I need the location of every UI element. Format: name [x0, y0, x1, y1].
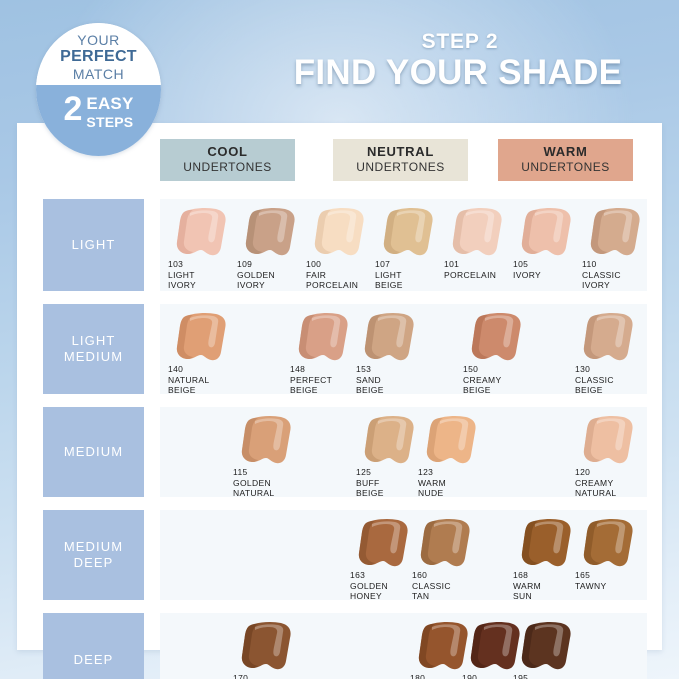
shade-number: 107 — [375, 259, 451, 270]
swatch-smear-icon — [467, 312, 527, 364]
shade-name: CLASSIC BEIGE — [575, 375, 651, 396]
shade-number: 195 — [513, 673, 589, 679]
shade-name: LIGHT IVORY — [168, 270, 244, 291]
shade-swatch-140[interactable]: 140NATURAL BEIGE — [168, 304, 240, 394]
shade-row: DEEP170DEEP GOLDEN180GOLDEN CARAMEL190DE… — [17, 613, 662, 679]
shade-swatch-120[interactable]: 120CREAMY NATURAL — [575, 407, 647, 497]
shade-info: 140NATURAL BEIGE — [168, 364, 244, 396]
shade-swatch-123[interactable]: 123WARM NUDE — [418, 407, 490, 497]
step-label: STEP 2 — [300, 30, 620, 54]
shade-swatch-100[interactable]: 100FAIR PORCELAIN — [306, 199, 378, 291]
shade-info: 100FAIR PORCELAIN — [306, 259, 382, 291]
shade-number: 123 — [418, 467, 494, 478]
shade-name: NATURAL BEIGE — [168, 375, 244, 396]
swatch-smear-icon — [586, 207, 646, 259]
infographic-stage: STEP 2 FIND YOUR SHADE YOUR PERFECT MATC… — [0, 0, 679, 679]
shade-info: 123WARM NUDE — [418, 467, 494, 499]
shade-name: CREAMY BEIGE — [463, 375, 539, 396]
swatch-smear-icon — [310, 207, 370, 259]
badge-easy-steps: EASY STEPS — [86, 92, 133, 132]
shade-number: 115 — [233, 467, 309, 478]
shade-swatch-101[interactable]: 101PORCELAIN — [444, 199, 516, 291]
row-label-medium[interactable]: MEDIUM — [43, 407, 144, 497]
shade-info: 150CREAMY BEIGE — [463, 364, 539, 396]
shade-info: 105IVORY — [513, 259, 589, 280]
shade-number: 170 — [233, 673, 309, 679]
swatch-smear-icon — [579, 415, 639, 467]
shade-info: 101PORCELAIN — [444, 259, 520, 280]
shade-name: LIGHT BEIGE — [375, 270, 451, 291]
shade-number: 101 — [444, 259, 520, 270]
swatch-smear-icon — [172, 312, 232, 364]
row-label-medium-deep[interactable]: MEDIUM DEEP — [43, 510, 144, 600]
undertone-name: NEUTRAL — [333, 144, 468, 160]
swatch-smear-icon — [360, 415, 420, 467]
shade-info: 115GOLDEN NATURAL — [233, 467, 309, 499]
shade-number: 153 — [356, 364, 432, 375]
swatch-smear-icon — [416, 518, 476, 570]
shade-swatch-109[interactable]: 109GOLDEN IVORY — [237, 199, 309, 291]
swatch-smear-icon — [579, 518, 639, 570]
swatch-smear-icon — [517, 207, 577, 259]
undertone-sublabel: UNDERTONES — [333, 160, 468, 175]
shade-number: 148 — [290, 364, 366, 375]
badge-perfect-label: PERFECT — [36, 48, 161, 66]
shade-name: GOLDEN IVORY — [237, 270, 313, 291]
shade-name: TAWNY — [575, 581, 651, 592]
swatch-smear-icon — [448, 207, 508, 259]
swatch-smear-icon — [517, 621, 577, 673]
shade-number: 103 — [168, 259, 244, 270]
shade-number: 150 — [463, 364, 539, 375]
shade-name: CREAMY NATURAL — [575, 478, 651, 499]
shade-row: LIGHT103LIGHT IVORY109GOLDEN IVORY100FAI… — [17, 199, 662, 291]
swatch-smear-icon — [360, 312, 420, 364]
swatch-smear-icon — [237, 415, 297, 467]
row-label-deep[interactable]: DEEP — [43, 613, 144, 679]
undertone-name: COOL — [160, 144, 295, 160]
shade-row: MEDIUM DEEP163GOLDEN HONEY160CLASSIC TAN… — [17, 510, 662, 600]
row-label-light[interactable]: LIGHT — [43, 199, 144, 291]
shade-info: 148PERFECT BEIGE — [290, 364, 366, 396]
shade-row: LIGHT MEDIUM140NATURAL BEIGE148PERFECT B… — [17, 304, 662, 394]
swatch-smear-icon — [294, 312, 354, 364]
shade-info: 109GOLDEN IVORY — [237, 259, 313, 291]
perfect-match-badge: YOUR PERFECT MATCH 2 EASY STEPS — [36, 23, 161, 156]
swatch-smear-icon — [241, 207, 301, 259]
shade-swatch-165[interactable]: 165TAWNY — [575, 510, 647, 600]
shade-swatch-148[interactable]: 148PERFECT BEIGE — [290, 304, 362, 394]
shade-info: 165TAWNY — [575, 570, 651, 591]
shade-number: 160 — [412, 570, 488, 581]
badge-bottom-half: 2 EASY STEPS — [36, 85, 161, 156]
undertone-sublabel: UNDERTONES — [160, 160, 295, 175]
badge-easy-label: EASY — [86, 94, 133, 113]
badge-match-label: MATCH — [36, 66, 161, 82]
shade-swatch-105[interactable]: 105IVORY — [513, 199, 585, 291]
undertone-header-neutral: NEUTRALUNDERTONES — [333, 139, 468, 181]
badge-steps-label: STEPS — [86, 114, 133, 130]
shade-info: 120CREAMY NATURAL — [575, 467, 651, 499]
shade-swatch-107[interactable]: 107LIGHT BEIGE — [375, 199, 447, 291]
shade-swatch-115[interactable]: 115GOLDEN NATURAL — [233, 407, 305, 497]
shade-name: PERFECT BEIGE — [290, 375, 366, 396]
undertone-sublabel: UNDERTONES — [498, 160, 633, 175]
swatch-smear-icon — [237, 621, 297, 673]
shade-swatch-150[interactable]: 150CREAMY BEIGE — [463, 304, 535, 394]
shade-swatch-110[interactable]: 110CLASSIC IVORY — [582, 199, 654, 291]
undertone-header-warm: WARMUNDERTONES — [498, 139, 633, 181]
shade-name: IVORY — [513, 270, 589, 281]
shade-chart-panel: COOLUNDERTONESNEUTRALUNDERTONESWARMUNDER… — [17, 123, 662, 650]
badge-steps-row: 2 EASY STEPS — [36, 85, 161, 132]
shade-swatch-195[interactable]: 195JAVA — [513, 613, 585, 679]
shade-swatch-160[interactable]: 160CLASSIC TAN — [412, 510, 484, 600]
shade-swatch-170[interactable]: 170DEEP GOLDEN — [233, 613, 305, 679]
shade-number: 120 — [575, 467, 651, 478]
shade-number: 130 — [575, 364, 651, 375]
shade-swatch-130[interactable]: 130CLASSIC BEIGE — [575, 304, 647, 394]
shade-name: WARM NUDE — [418, 478, 494, 499]
badge-step-count: 2 — [63, 92, 82, 126]
shade-info: 103LIGHT IVORY — [168, 259, 244, 291]
shade-name: FAIR PORCELAIN — [306, 270, 382, 291]
shade-info: 110CLASSIC IVORY — [582, 259, 658, 291]
shade-info: 107LIGHT BEIGE — [375, 259, 451, 291]
shade-swatch-103[interactable]: 103LIGHT IVORY — [168, 199, 240, 291]
shade-name: CLASSIC IVORY — [582, 270, 658, 291]
shade-number: 109 — [237, 259, 313, 270]
undertone-name: WARM — [498, 144, 633, 160]
shade-number: 165 — [575, 570, 651, 581]
shade-name: CLASSIC TAN — [412, 581, 488, 602]
badge-top-half: YOUR PERFECT MATCH — [36, 23, 161, 85]
swatch-smear-icon — [579, 312, 639, 364]
undertone-header-cool: COOLUNDERTONES — [160, 139, 295, 181]
swatch-smear-icon — [172, 207, 232, 259]
shade-name: GOLDEN NATURAL — [233, 478, 309, 499]
shade-number: 110 — [582, 259, 658, 270]
shade-row: MEDIUM115GOLDEN NATURAL125BUFF BEIGE123W… — [17, 407, 662, 497]
shade-info: 195JAVA — [513, 673, 589, 679]
shade-info: 130CLASSIC BEIGE — [575, 364, 651, 396]
swatch-smear-icon — [379, 207, 439, 259]
shade-info: 153SAND BEIGE — [356, 364, 432, 396]
shade-name: SAND BEIGE — [356, 375, 432, 396]
badge-your-label: YOUR — [36, 33, 161, 48]
shade-swatch-153[interactable]: 153SAND BEIGE — [356, 304, 428, 394]
shade-number: 140 — [168, 364, 244, 375]
shade-number: 105 — [513, 259, 589, 270]
page-title: FIND YOUR SHADE — [248, 53, 668, 93]
swatch-smear-icon — [422, 415, 482, 467]
shade-number: 100 — [306, 259, 382, 270]
swatch-smear-icon — [517, 518, 577, 570]
swatch-smear-icon — [354, 518, 414, 570]
shade-info: 160CLASSIC TAN — [412, 570, 488, 602]
row-label-light-medium[interactable]: LIGHT MEDIUM — [43, 304, 144, 394]
shade-name: PORCELAIN — [444, 270, 520, 281]
shade-info: 170DEEP GOLDEN — [233, 673, 309, 679]
